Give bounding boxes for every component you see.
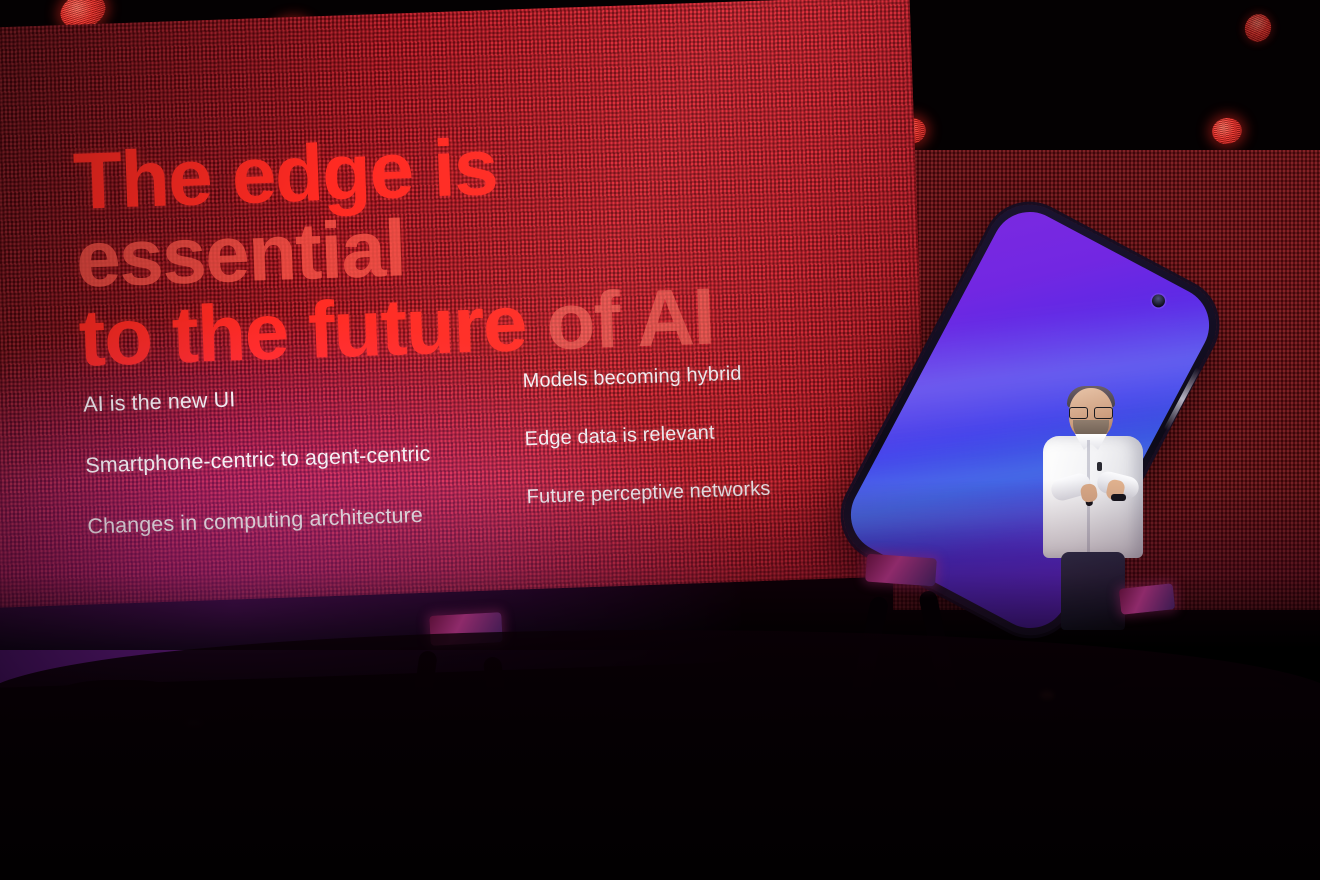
bullet-item: Future perceptive networks [526,473,867,509]
bullet-item: Edge data is relevant [524,415,865,451]
slide-headline: The edge is essential to the future of A… [72,116,840,378]
audience-light-glint [1240,752,1252,760]
audience-head [980,704,1076,880]
audience-head [1086,720,1178,880]
keynote-stage-photo: The edge is essential to the future of A… [0,0,1320,880]
bullet-column-right: Models becoming hybrid Edge data is rele… [522,357,868,543]
audience-raised-arm [918,589,996,878]
audience-head [1186,690,1286,880]
audience-shoulders [1040,670,1320,880]
bullet-column-left: AI is the new UI Smartphone-centric to a… [83,378,519,575]
audience-head [626,698,722,880]
main-led-screen: The edge is essential to the future of A… [0,0,930,608]
audience-shoulders [0,680,270,880]
bullet-item: Smartphone-centric to agent-centric [85,438,516,479]
audience-light-glint [186,720,202,730]
audience-held-phone [429,612,502,646]
headline-line2-dim: of AI [545,271,715,366]
audience-shoulders [560,694,840,880]
audience-raised-arm [483,656,532,880]
headline-line1-dim: essential [75,204,407,304]
audience-head [150,704,246,880]
audience-head [40,730,128,880]
audience-raised-arm [812,595,889,878]
bullet-item: Changes in computing architecture [87,499,518,540]
bullet-item: AI is the new UI [83,378,514,419]
presenter-figure [1035,388,1155,628]
wristwatch-icon [1111,494,1126,501]
audience-light-glint [1040,691,1054,700]
lapel-microphone-icon [1097,462,1102,471]
audience-raised-arm [388,650,438,880]
audience-shoulders [210,690,470,880]
audience-head [255,730,341,880]
presentation-slide: The edge is essential to the future of A… [0,0,930,608]
audience-head [400,752,500,880]
audience-foreground-mass [0,630,1320,880]
audience-head [740,724,830,880]
audience-head [520,720,612,880]
glasses-icon [1068,407,1114,417]
presenter-jeans [1061,552,1125,630]
audience-head [856,730,960,880]
